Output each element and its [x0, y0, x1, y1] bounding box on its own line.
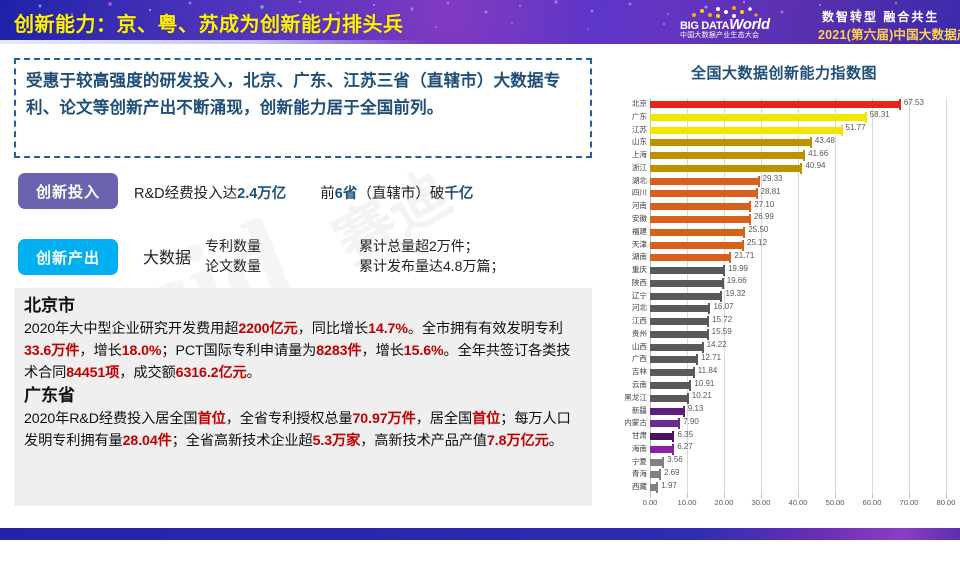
chart-bar-endcap — [723, 265, 725, 276]
chart-bar-endcap — [693, 367, 695, 378]
chart-value-label: 58.31 — [870, 110, 890, 119]
chart-bar-endcap — [800, 163, 802, 174]
chart-xtick-label: 40.00 — [788, 498, 807, 507]
innovation-index-chart: 全国大数据创新能力指数图 0.0010.0020.0030.0040.0050.… — [612, 58, 956, 520]
page-title: 创新能力：京、粤、苏成为创新能力排头兵 — [14, 8, 404, 37]
guangdong-paragraph: 2020年R&D经费投入居全国首位，全省专利授权总量70.97万件，居全国首位；… — [24, 408, 584, 452]
chart-bar-row: 安徽26.99 — [650, 214, 946, 226]
chart-value-label: 12.71 — [701, 353, 721, 362]
chart-category-label: 贵州 — [632, 328, 647, 339]
chart-bar-row: 广东58.31 — [650, 112, 946, 124]
chart-xtick-label: 10.00 — [677, 498, 696, 507]
chart-value-label: 9.13 — [688, 404, 704, 413]
chart-bar-endcap — [865, 112, 867, 123]
chart-value-label: 11.84 — [698, 366, 717, 375]
chart-bar-endcap — [656, 482, 658, 493]
chart-bar-endcap — [662, 457, 664, 468]
chart-value-label: 6.27 — [677, 442, 693, 451]
chart-bar-row: 北京67.53 — [650, 99, 946, 111]
header-branding: BIG DATAWorld 中国大数据产业生态大会 数智转型 融合共生 2021… — [604, 2, 952, 42]
chart-bar-endcap — [689, 380, 691, 391]
chart-bar-row: 四川28.81 — [650, 188, 946, 200]
chart-bar-endcap — [708, 303, 710, 314]
chart-bar-endcap — [729, 252, 731, 263]
chart-value-label: 10.21 — [692, 391, 712, 400]
chart-xtick-label: 20.00 — [714, 498, 733, 507]
chart-bar — [650, 152, 804, 159]
chart-bar-row: 宁夏3.56 — [650, 457, 946, 469]
chart-bar — [650, 408, 684, 415]
chart-value-label: 25.50 — [748, 225, 768, 234]
chart-value-label: 21.71 — [734, 251, 754, 260]
chart-category-label: 河北 — [632, 302, 647, 313]
chart-bar — [650, 433, 673, 440]
chart-category-label: 青海 — [632, 468, 647, 479]
output-group-label: 大数据 — [143, 244, 205, 268]
chart-bar-row: 上海41.66 — [650, 150, 946, 162]
chart-bar — [650, 331, 708, 338]
chart-value-label: 51.77 — [846, 123, 866, 132]
chart-bar-row: 山东43.48 — [650, 137, 946, 149]
chart-bar-row: 江苏51.77 — [650, 125, 946, 137]
output-item-name-1: 论文数量 — [205, 256, 307, 276]
chart-category-label: 福建 — [632, 226, 647, 237]
chart-bar — [650, 420, 679, 427]
chart-plot-area: 0.0010.0020.0030.0040.0050.0060.0070.008… — [650, 98, 946, 530]
chart-bar — [650, 318, 708, 325]
badge-innovation-input: 创新投入 — [18, 173, 118, 209]
chart-bar-endcap — [743, 227, 745, 238]
chart-category-label: 西藏 — [632, 481, 647, 492]
chart-bar-row: 新疆9.13 — [650, 406, 946, 418]
logo-subtitle: 中国大数据产业生态大会 — [680, 30, 759, 40]
chart-bar — [650, 178, 759, 185]
chart-value-label: 19.66 — [727, 276, 747, 285]
chart-bar — [650, 280, 723, 287]
chart-category-label: 辽宁 — [632, 290, 647, 301]
chart-bar-row: 湖北29.33 — [650, 176, 946, 188]
chart-bar — [650, 305, 709, 312]
chart-bar-row: 吉林11.84 — [650, 367, 946, 379]
chart-value-label: 19.99 — [728, 264, 748, 273]
chart-bar — [650, 139, 811, 146]
chart-value-label: 29.33 — [763, 174, 783, 183]
guangdong-heading: 广东省 — [24, 384, 584, 408]
chart-bar-endcap — [749, 214, 751, 225]
chart-bar-endcap — [696, 354, 698, 365]
chart-bar — [650, 114, 866, 121]
chart-bar-endcap — [678, 418, 680, 429]
chart-category-label: 四川 — [632, 187, 647, 198]
chart-category-label: 上海 — [632, 149, 647, 160]
chart-category-label: 山东 — [632, 136, 647, 147]
chart-bar-endcap — [749, 201, 751, 212]
input-highlight-2: 6省 — [335, 186, 358, 202]
chart-bar-row: 青海2.69 — [650, 469, 946, 481]
chart-bar-endcap — [687, 393, 689, 404]
chart-bar-endcap — [810, 137, 812, 148]
chart-bar — [650, 395, 688, 402]
chart-bar-endcap — [758, 176, 760, 187]
chart-category-label: 甘肃 — [632, 430, 647, 441]
lead-callout-box: 受惠于较高强度的研发投入，北京、广东、江苏三省（直辖市）大数据专利、论文等创新产… — [14, 58, 592, 158]
chart-bar — [650, 190, 757, 197]
chart-value-label: 41.66 — [808, 149, 828, 158]
chart-category-label: 重庆 — [632, 264, 647, 275]
chart-category-label: 河南 — [632, 200, 647, 211]
chart-bar — [650, 267, 724, 274]
chart-bar-row: 贵州15.59 — [650, 329, 946, 341]
chart-bar-endcap — [659, 469, 661, 480]
chart-bar — [650, 344, 703, 351]
chart-bar-row: 海南6.27 — [650, 444, 946, 456]
chart-xtick-label: 60.00 — [862, 498, 881, 507]
chart-bar-endcap — [742, 240, 744, 251]
chart-value-label: 1.97 — [661, 481, 677, 490]
output-item-value-1: 累计发布量达4.8万篇； — [307, 256, 583, 276]
chart-value-label: 16.07 — [713, 302, 733, 311]
chart-bar — [650, 356, 697, 363]
chart-bar-row: 重庆19.99 — [650, 265, 946, 277]
chart-value-label: 15.59 — [712, 327, 732, 336]
chart-bar — [650, 101, 900, 108]
chart-xtick-label: 50.00 — [825, 498, 844, 507]
chart-value-label: 43.48 — [815, 136, 835, 145]
chart-value-label: 25.12 — [747, 238, 767, 247]
chart-value-label: 40.94 — [805, 161, 825, 170]
chart-category-label: 江苏 — [632, 124, 647, 135]
chart-bar-endcap — [702, 342, 704, 353]
output-item-name-0: 专利数量 — [205, 236, 307, 256]
event-slogan: 数智转型 融合共生 — [822, 8, 939, 25]
event-name: 2021(第六届)中国大数据产业生态大会 — [818, 24, 960, 43]
chart-bar-row: 广西12.71 — [650, 354, 946, 366]
chart-bar — [650, 242, 743, 249]
chart-bar-row: 西藏1.97 — [650, 482, 946, 494]
chart-bar-endcap — [756, 188, 758, 199]
chart-bar-endcap — [720, 291, 722, 302]
output-item-value-0: 累计总量超2万件； — [307, 236, 583, 256]
chart-bar-row: 辽宁19.32 — [650, 291, 946, 303]
chart-category-label: 吉林 — [632, 366, 647, 377]
chart-value-label: 6.35 — [677, 430, 693, 439]
input-text-1: R&D经费投入达 — [134, 186, 237, 202]
input-highlight-1: 2.4万亿 — [237, 186, 286, 202]
chart-category-label: 湖南 — [632, 251, 647, 262]
chart-category-label: 北京 — [632, 98, 647, 109]
badge-innovation-output: 创新产出 — [18, 239, 118, 275]
input-text-3: （直辖市）破 — [357, 186, 444, 202]
chart-bar-endcap — [841, 125, 843, 136]
chart-bar-row: 黑龙江10.21 — [650, 393, 946, 405]
slide-footer-bar — [0, 528, 960, 540]
chart-bar-endcap — [672, 431, 674, 442]
chart-bar-endcap — [803, 150, 805, 161]
chart-bar-endcap — [683, 406, 685, 417]
innovation-input-line: R&D经费投入达2.4万亿前6省（直辖市）破千亿 — [134, 182, 473, 203]
innovation-output-table: 大数据 专利数量 累计总量超2万件； 论文数量 累计发布量达4.8万篇； — [143, 236, 583, 276]
chart-category-label: 安徽 — [632, 213, 647, 224]
chart-category-label: 内蒙古 — [624, 417, 647, 428]
beijing-paragraph: 2020年大中型企业研究开发费用超2200亿元，同比增长14.7%。全市拥有有效… — [24, 318, 584, 384]
chart-category-label: 陕西 — [632, 277, 647, 288]
chart-bar-row: 天津25.12 — [650, 240, 946, 252]
chart-bar-endcap — [672, 444, 674, 455]
chart-bar-row: 湖南21.71 — [650, 252, 946, 264]
chart-bar-row: 甘肃6.35 — [650, 431, 946, 443]
chart-category-label: 宁夏 — [632, 456, 647, 467]
chart-category-label: 云南 — [632, 379, 647, 390]
beijing-heading: 北京市 — [24, 294, 584, 318]
slide-header: 创新能力：京、粤、苏成为创新能力排头兵 BIG DATAWorld 中国大数据产… — [0, 0, 960, 44]
chart-bar-endcap — [899, 99, 901, 110]
chart-value-label: 27.10 — [754, 200, 774, 209]
chart-bar-row: 山西14.22 — [650, 342, 946, 354]
chart-value-label: 7.90 — [683, 417, 699, 426]
regional-detail-panel: 北京市 2020年大中型企业研究开发费用超2200亿元，同比增长14.7%。全市… — [14, 288, 592, 506]
chart-category-label: 新疆 — [632, 405, 647, 416]
chart-bar — [650, 369, 694, 376]
chart-category-label: 湖北 — [632, 175, 647, 186]
chart-value-label: 3.56 — [667, 455, 683, 464]
chart-bar-endcap — [722, 278, 724, 289]
chart-xtick-label: 80.00 — [936, 498, 955, 507]
chart-category-label: 海南 — [632, 443, 647, 454]
chart-bar — [650, 216, 750, 223]
chart-value-label: 19.32 — [725, 289, 745, 298]
chart-bar-row: 江西15.72 — [650, 316, 946, 328]
chart-bar-row: 内蒙古7.90 — [650, 418, 946, 430]
chart-category-label: 黑龙江 — [624, 392, 647, 403]
chart-value-label: 10.91 — [694, 379, 714, 388]
chart-bar-row: 陕西19.66 — [650, 278, 946, 290]
chart-value-label: 15.72 — [712, 315, 732, 324]
input-text-2: 前 — [320, 186, 335, 202]
chart-bar — [650, 165, 801, 172]
chart-gridline — [946, 98, 947, 494]
chart-bar — [650, 446, 673, 453]
chart-value-label: 28.81 — [761, 187, 781, 196]
chart-xtick-label: 0.00 — [643, 498, 658, 507]
chart-bar-row: 河北16.07 — [650, 303, 946, 315]
chart-bar — [650, 203, 750, 210]
chart-category-label: 山西 — [632, 341, 647, 352]
chart-bar — [650, 382, 690, 389]
chart-bar-row: 河南27.10 — [650, 201, 946, 213]
chart-xtick-label: 30.00 — [751, 498, 770, 507]
chart-value-label: 67.53 — [904, 98, 924, 107]
chart-bar-endcap — [707, 329, 709, 340]
bigdata-world-logo: BIG DATAWorld 中国大数据产业生态大会 — [680, 6, 810, 40]
chart-category-label: 江西 — [632, 315, 647, 326]
chart-bar — [650, 293, 721, 300]
input-highlight-3: 千亿 — [444, 186, 473, 202]
chart-category-label: 浙江 — [632, 162, 647, 173]
chart-xtick-label: 70.00 — [899, 498, 918, 507]
chart-value-label: 2.69 — [664, 468, 680, 477]
chart-bar — [650, 127, 842, 134]
chart-category-label: 广西 — [632, 353, 647, 364]
chart-bar-row: 浙江40.94 — [650, 163, 946, 175]
chart-title: 全国大数据创新能力指数图 — [612, 62, 956, 83]
chart-bar-endcap — [707, 316, 709, 327]
lead-callout-text: 受惠于较高强度的研发投入，北京、广东、江苏三省（直辖市）大数据专利、论文等创新产… — [26, 68, 582, 122]
chart-bar-row: 福建25.50 — [650, 227, 946, 239]
chart-bar — [650, 254, 730, 261]
chart-bar-row: 云南10.91 — [650, 380, 946, 392]
chart-category-label: 天津 — [632, 239, 647, 250]
chart-value-label: 14.22 — [707, 340, 727, 349]
chart-value-label: 26.99 — [754, 212, 774, 221]
chart-bar — [650, 229, 744, 236]
chart-category-label: 广东 — [632, 111, 647, 122]
